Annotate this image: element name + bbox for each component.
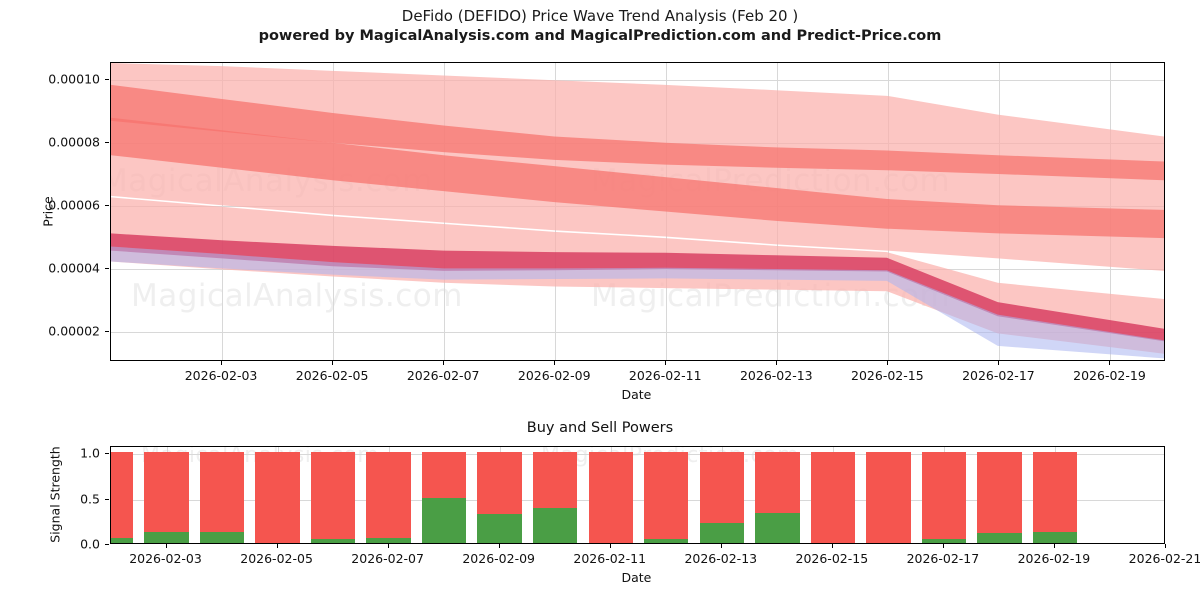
price-x-axis-label: Date (622, 387, 652, 402)
buy-power-segment (200, 532, 244, 543)
y-tick-mark (105, 453, 109, 454)
x-tick-mark (721, 544, 722, 548)
price-y-axis-label: Price (41, 181, 56, 241)
x-tick-mark (832, 544, 833, 548)
y-tick-mark (105, 544, 109, 545)
buy-power-segment (644, 539, 688, 543)
buy-power-segment (422, 498, 466, 543)
x-tick-label: 2026-02-13 (684, 551, 757, 566)
signal-bar[interactable] (422, 452, 466, 543)
buy-power-segment (700, 523, 744, 543)
x-tick-mark (554, 361, 555, 365)
buy-power-segment (311, 539, 355, 543)
price-wave-chart: MagicalAnalysis.comMagicalPrediction.com… (110, 62, 1165, 361)
x-tick-mark (443, 361, 444, 365)
x-tick-mark (166, 544, 167, 548)
signal-bar[interactable] (977, 452, 1021, 543)
sell-power-segment (311, 452, 355, 543)
signal-bar[interactable] (644, 452, 688, 543)
x-tick-label: 2026-02-19 (1018, 551, 1091, 566)
sell-power-segment (200, 452, 244, 543)
y-tick-mark (105, 79, 109, 80)
signal-y-axis-label: Signal Strength (48, 445, 63, 545)
signal-bar[interactable] (366, 452, 410, 543)
buy-power-segment (533, 508, 577, 543)
signal-bar[interactable] (533, 452, 577, 543)
signal-bar[interactable] (811, 452, 855, 543)
signal-bar[interactable] (1033, 452, 1077, 543)
signal-bar[interactable] (589, 452, 633, 543)
y-tick-mark (105, 205, 109, 206)
y-tick-mark (105, 268, 109, 269)
x-tick-label: 2026-02-17 (907, 551, 980, 566)
x-tick-mark (277, 544, 278, 548)
x-tick-mark (887, 361, 888, 365)
sell-power-segment (1033, 452, 1077, 543)
sell-power-segment (644, 452, 688, 543)
title-block: DeFido (DEFIDO) Price Wave Trend Analysi… (0, 6, 1200, 46)
page-title: DeFido (DEFIDO) Price Wave Trend Analysi… (0, 6, 1200, 26)
x-tick-label: 2026-02-09 (462, 551, 535, 566)
signal-x-axis-label: Date (622, 570, 652, 585)
signal-bar[interactable] (755, 452, 799, 543)
buy-power-segment (755, 513, 799, 543)
x-tick-label: 2026-02-21 (1129, 551, 1200, 566)
signal-bar[interactable] (866, 452, 910, 543)
sell-power-segment (977, 452, 1021, 543)
y-tick-label: 0.00002 (10, 324, 100, 339)
sell-power-segment (144, 452, 188, 543)
chart-page: DeFido (DEFIDO) Price Wave Trend Analysi… (0, 0, 1200, 600)
buy-power-segment (922, 539, 966, 543)
sell-power-segment (866, 452, 910, 543)
x-tick-mark (1165, 544, 1166, 548)
signal-bar[interactable] (477, 452, 521, 543)
price-band-layer (111, 63, 1164, 360)
buy-power-segment (1033, 532, 1077, 543)
x-tick-mark (943, 544, 944, 548)
buy-power-segment (366, 538, 410, 543)
y-tick-label: 0.00008 (10, 135, 100, 150)
y-tick-mark (105, 499, 109, 500)
buy-power-segment (110, 538, 133, 543)
x-tick-mark (332, 361, 333, 365)
buy-sell-powers-chart: MagicalAnalysis.comMagicalPrediction.com (110, 446, 1165, 544)
signal-bar[interactable] (200, 452, 244, 543)
x-tick-label: 2026-02-15 (796, 551, 869, 566)
x-tick-label: 2026-02-11 (573, 551, 646, 566)
x-tick-mark (1054, 544, 1055, 548)
x-tick-label: 2026-02-13 (740, 368, 813, 383)
page-subtitle: powered by MagicalAnalysis.com and Magic… (0, 26, 1200, 46)
x-tick-label: 2026-02-05 (240, 551, 313, 566)
y-tick-label: 0.00010 (10, 72, 100, 87)
x-tick-label: 2026-02-09 (518, 368, 591, 383)
x-tick-label: 2026-02-17 (962, 368, 1035, 383)
y-tick-label: 0.00004 (10, 261, 100, 276)
x-tick-label: 2026-02-15 (851, 368, 924, 383)
buy-power-segment (977, 533, 1021, 543)
y-tick-mark (105, 142, 109, 143)
x-tick-mark (499, 544, 500, 548)
signal-bar[interactable] (110, 452, 133, 543)
x-tick-mark (1109, 361, 1110, 365)
x-tick-mark (998, 361, 999, 365)
buy-power-segment (477, 514, 521, 543)
x-tick-label: 2026-02-07 (351, 551, 424, 566)
x-tick-mark (388, 544, 389, 548)
signal-bar[interactable] (922, 452, 966, 543)
buy-power-segment (144, 532, 188, 543)
sell-power-segment (110, 452, 133, 543)
signal-bar[interactable] (144, 452, 188, 543)
x-tick-mark (776, 361, 777, 365)
sell-power-segment (922, 452, 966, 543)
signal-chart-title: Buy and Sell Powers (0, 420, 1200, 436)
x-tick-mark (665, 361, 666, 365)
x-tick-label: 2026-02-19 (1073, 368, 1146, 383)
signal-bar[interactable] (311, 452, 355, 543)
x-tick-label: 2026-02-03 (129, 551, 202, 566)
sell-power-segment (811, 452, 855, 543)
sell-power-segment (366, 452, 410, 543)
x-tick-mark (221, 361, 222, 365)
sell-power-segment (255, 452, 299, 543)
y-tick-mark (105, 331, 109, 332)
x-tick-label: 2026-02-03 (185, 368, 258, 383)
x-tick-label: 2026-02-11 (629, 368, 702, 383)
x-tick-label: 2026-02-07 (407, 368, 480, 383)
x-tick-mark (610, 544, 611, 548)
x-tick-label: 2026-02-05 (296, 368, 369, 383)
signal-bar[interactable] (700, 452, 744, 543)
sell-power-segment (589, 452, 633, 543)
signal-bar[interactable] (255, 452, 299, 543)
